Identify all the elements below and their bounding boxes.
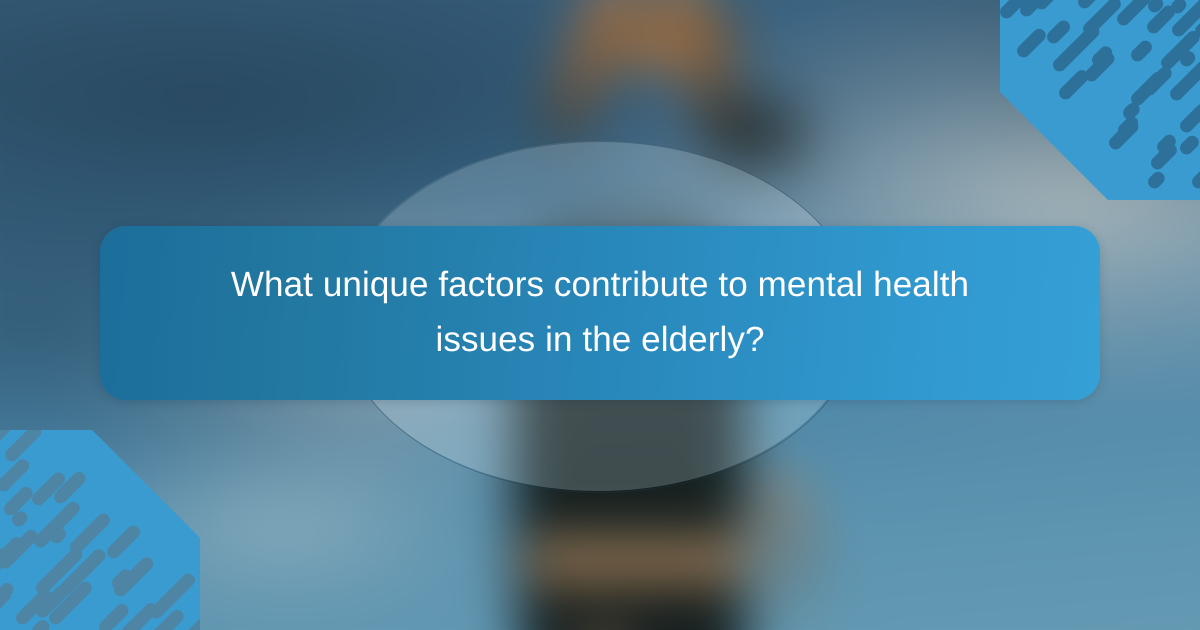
person-hands xyxy=(593,0,743,72)
question-card: What unique factors contribute to mental… xyxy=(100,226,1100,400)
person-lower-body xyxy=(521,585,746,630)
person-midriff xyxy=(527,533,742,591)
screenshot-canvas: What unique factors contribute to mental… xyxy=(0,0,1200,630)
question-text: What unique factors contribute to mental… xyxy=(206,258,994,367)
